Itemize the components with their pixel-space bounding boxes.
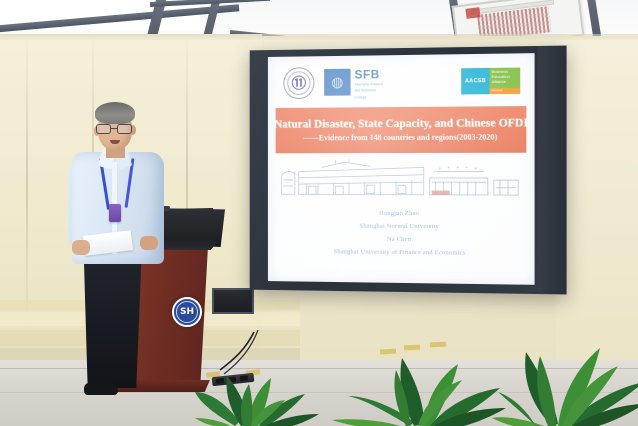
wall-seam <box>26 34 28 334</box>
speaker-hand-left <box>72 240 90 255</box>
artwork-red-banner <box>432 191 450 195</box>
seal-monogram: ⑪ <box>292 76 307 91</box>
speaker <box>62 100 172 400</box>
sfb-logo: ◍ SFB Shanghai Finance and Business Coll… <box>324 68 383 100</box>
wall-trim <box>0 34 638 40</box>
sfb-subtitle-2: and Business <box>355 88 384 93</box>
aacsb-mark: AACSB <box>461 68 489 95</box>
aacsb-alliance-block: Business Education Alliance Member <box>490 68 521 95</box>
slide-title: Natural Disaster, State Capacity, and Ch… <box>274 117 528 131</box>
glasses-lens-right <box>117 124 132 134</box>
display-right-panel <box>538 46 567 295</box>
speaker-hand-right <box>140 236 158 250</box>
glasses-icon <box>96 124 134 134</box>
slide-author-block: Hongjun Zhao Shanghai Normal University … <box>268 206 535 260</box>
campus-artwork-svg <box>278 159 525 202</box>
presentation-display[interactable]: ⑪ ◍ SFB Shanghai Finance and Business Co… <box>250 46 567 295</box>
sfb-emblem-icon: ◍ <box>324 69 350 96</box>
emblem-monogram: SH <box>176 301 198 323</box>
presentation-room-photo: ⑪ ◍ SFB Shanghai Finance and Business Co… <box>0 0 638 426</box>
potted-plant-center <box>330 336 510 426</box>
aacsb-member-tag: Member <box>490 88 521 94</box>
glasses-lens-left <box>96 124 111 134</box>
speaker-hair <box>95 102 135 124</box>
aacsb-alliance-text: Business Education Alliance <box>490 68 521 89</box>
sfb-subtitle-1: Shanghai Finance <box>355 82 384 87</box>
sfb-subtitle-3: College <box>355 95 384 100</box>
wall-monitor <box>212 288 254 314</box>
sfb-name: SFB <box>355 68 384 80</box>
aacsb-logo: AACSB Business Education Alliance Member <box>461 68 520 95</box>
slide-logo-row: ⑪ ◍ SFB Shanghai Finance and Business Co… <box>278 61 527 104</box>
presentation-slide: ⑪ ◍ SFB Shanghai Finance and Business Co… <box>268 53 535 285</box>
university-seal-icon: ⑪ <box>283 67 314 99</box>
speaker-shoe <box>84 383 118 395</box>
campus-building-line-drawing <box>278 159 525 202</box>
conference-badge <box>109 204 121 222</box>
speaker-legs <box>80 258 144 388</box>
podium-university-emblem-icon: SH <box>172 297 202 327</box>
author-affiliation-2: Shanghai University of Finance and Econo… <box>268 245 535 261</box>
potted-plant-right <box>492 318 638 426</box>
aacsb-alliance-line-3: Alliance <box>492 79 519 84</box>
ceiling-indicator <box>465 7 480 19</box>
slide-title-band: Natural Disaster, State Capacity, and Ch… <box>276 106 527 153</box>
slide-subtitle: ——Evidence from 148 countries and region… <box>303 133 497 143</box>
sfb-text-block: SFB Shanghai Finance and Business Colleg… <box>355 68 384 100</box>
glasses-bridge <box>111 128 117 129</box>
